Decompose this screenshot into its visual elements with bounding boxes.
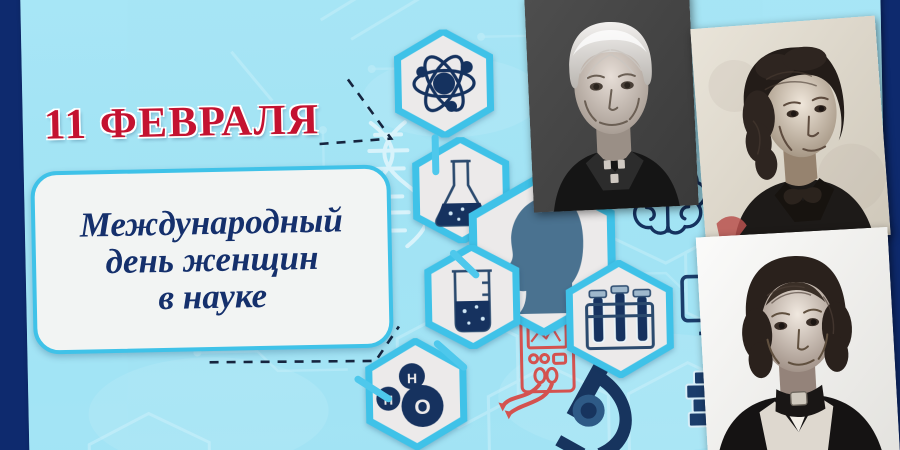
title-card: Международный день женщин в науке	[30, 164, 394, 354]
title-line-1: Международный	[79, 202, 343, 242]
portrait-scientist-2	[690, 16, 891, 249]
portrait-scientist-3	[696, 227, 900, 450]
portrait-scientist-1	[524, 0, 699, 213]
poster-canvas: O H H	[0, 0, 900, 450]
date-heading: 11 ФЕВРАЛЯ	[44, 95, 321, 150]
title-line-2: день женщин	[105, 240, 319, 279]
title-line-3: в науке	[158, 278, 267, 315]
